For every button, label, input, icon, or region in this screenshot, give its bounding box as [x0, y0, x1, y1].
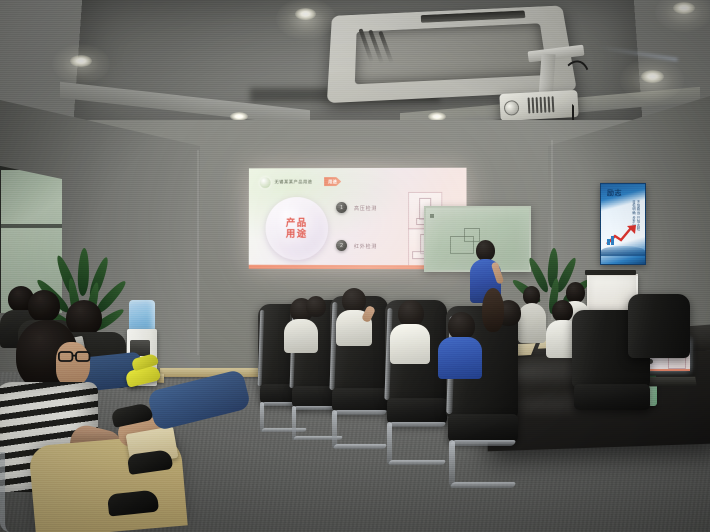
attendee-row-3-head — [398, 300, 424, 327]
slide-header-tag: 用途 — [324, 177, 341, 186]
attendee-row-5-shirt — [438, 337, 482, 379]
meeting-room-photo: 无锡某某产品用途 用途 产品 用途 1 高压检测 2 红外检测 励志 不怕路远 … — [0, 0, 710, 532]
slide-header-text: 无锡某某产品用途 — [275, 179, 313, 185]
downlight-4 — [641, 70, 664, 83]
attendee-row-5-blue — [438, 312, 482, 378]
slide-bullet-1-label: 高压检测 — [354, 205, 377, 212]
downlight-1 — [70, 55, 92, 67]
attendee-long-hair — [478, 288, 508, 344]
glasses-icon — [58, 350, 94, 363]
chair-7 — [628, 294, 698, 404]
downlight-2 — [295, 8, 316, 20]
motivational-poster: 励志 不怕路远 只怕志短 目标明确 步步向前 — [600, 183, 646, 265]
attendee-long-hair-head — [482, 288, 504, 332]
slide-center-circle: 产品 用途 — [266, 197, 329, 260]
slide-logo-icon — [260, 177, 271, 188]
presenter-head — [476, 240, 495, 261]
downlight-3 — [673, 2, 695, 14]
poster-title: 励志 — [607, 190, 622, 197]
flipchart-top-rail — [585, 270, 636, 275]
attendee-table-3-head — [552, 300, 573, 322]
attendee-row-3-shirt — [390, 324, 430, 364]
water-bottle — [129, 300, 155, 330]
slide-bullet-2-number: 2 — [336, 240, 347, 251]
attendee-front-face — [56, 342, 90, 386]
wall-seam-left — [197, 150, 199, 355]
slide-bullet-2-label: 红外检测 — [354, 243, 377, 250]
whiteboard-marker-tray — [430, 214, 434, 218]
slide-circle-line2: 用途 — [286, 228, 308, 239]
slide-bullet-1-number: 1 — [336, 202, 347, 213]
attendee-row-4 — [304, 296, 330, 326]
projector-lens — [504, 100, 520, 116]
chair-frame-foreground — [0, 452, 35, 532]
attendee-row-5-head — [448, 312, 475, 340]
attendee-row-2 — [336, 288, 372, 346]
poster-growth-arrow-icon — [606, 224, 639, 246]
slide-circle-line1: 产品 — [286, 218, 308, 229]
attendee-row-4-head — [306, 296, 326, 317]
poster-wave — [601, 246, 645, 256]
attendee-row-3 — [390, 300, 430, 362]
